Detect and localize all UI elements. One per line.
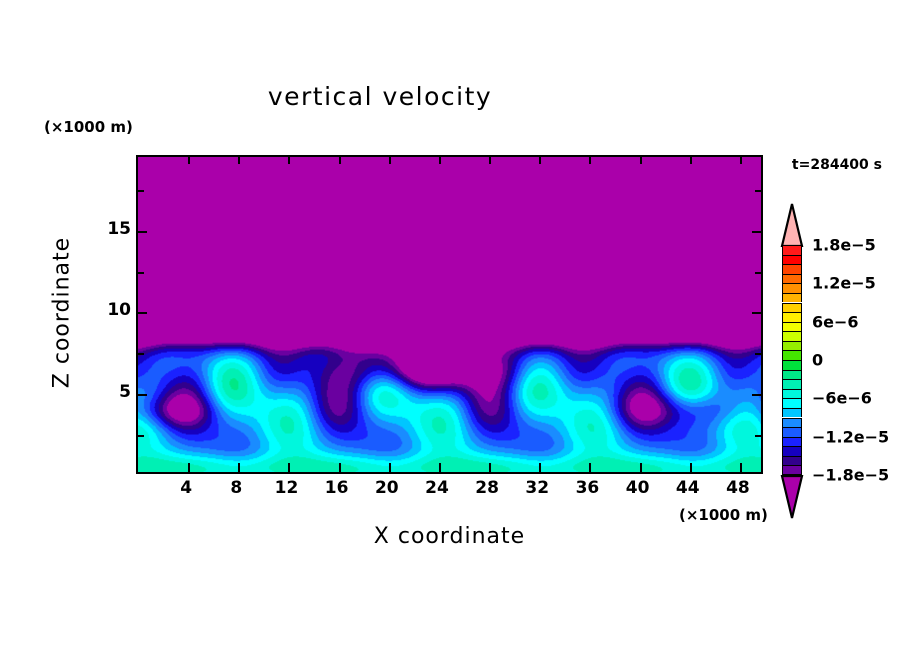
x-axis-tick-label: 36	[576, 478, 600, 498]
x-axis-tick	[539, 157, 541, 164]
colorbar-under-arrow-icon	[777, 475, 807, 519]
y-axis-tick-label: 15	[107, 219, 131, 239]
x-axis-tick	[188, 157, 190, 164]
y-axis-tick	[138, 190, 144, 192]
x-axis-tick-label: 20	[375, 478, 399, 498]
x-axis-tick	[589, 157, 591, 164]
colorbar-tick-label: 6e−6	[812, 312, 859, 331]
y-axis-tick	[138, 435, 144, 437]
x-axis-tick	[489, 157, 491, 164]
colorbar-units-label: (×1000 m)	[679, 506, 768, 524]
colorbar-tick-label: 0	[812, 351, 823, 370]
x-axis-tick	[589, 463, 591, 472]
y-axis-tick	[755, 272, 761, 274]
page-title: vertical velocity	[0, 82, 760, 111]
y-axis-tick	[138, 272, 144, 274]
x-axis-tick	[288, 463, 290, 472]
y-axis-tick	[755, 353, 761, 355]
y-axis-tick	[138, 312, 147, 314]
colorbar-band[interactable]	[782, 341, 802, 351]
y-axis-tick	[755, 190, 761, 192]
x-axis-tick	[439, 157, 441, 164]
colorbar-over-arrow-icon	[777, 203, 807, 247]
x-axis-tick-label: 32	[525, 478, 549, 498]
x-axis-tick	[640, 463, 642, 472]
colorbar-bands[interactable]	[782, 245, 802, 475]
x-axis-tick-label: 16	[325, 478, 349, 498]
colorbar-band[interactable]	[782, 360, 802, 370]
colorbar-tick-label: −1.8e−5	[812, 466, 889, 485]
y-axis-tick	[138, 394, 147, 396]
x-axis-tick	[238, 463, 240, 472]
x-axis-tick	[339, 157, 341, 164]
x-axis-tick-label: 8	[230, 478, 242, 498]
x-axis-tick-label: 28	[475, 478, 499, 498]
x-axis-tick	[389, 463, 391, 472]
x-axis-title: X coordinate	[136, 524, 763, 549]
x-axis-tick-label: 24	[425, 478, 449, 498]
x-axis-tick	[690, 157, 692, 164]
x-axis-tick	[389, 157, 391, 164]
y-axis-tick	[138, 353, 144, 355]
colorbar-band[interactable]	[782, 312, 802, 322]
y-axis-tick	[752, 312, 761, 314]
y-axis-tick	[752, 394, 761, 396]
colorbar-band[interactable]	[782, 322, 802, 332]
x-axis-tick-label: 4	[180, 478, 192, 498]
x-axis-tick-label: 12	[275, 478, 299, 498]
y-axis-units-label: (×1000 m)	[44, 118, 133, 136]
x-axis-tick	[740, 157, 742, 164]
colorbar-band[interactable]	[782, 350, 802, 360]
colorbar-band[interactable]	[782, 293, 802, 303]
time-annotation: t=284400 s	[792, 157, 882, 173]
colorbar-tick-label: −1.2e−5	[812, 427, 889, 446]
y-axis-tick	[138, 231, 147, 233]
y-axis-tick-label: 10	[107, 300, 131, 320]
y-axis-tick	[752, 231, 761, 233]
x-axis-tick-label: 40	[626, 478, 650, 498]
figure-root: vertical velocity (×1000 m) Z coordinate…	[0, 0, 904, 654]
colorbar-tick-label: 1.2e−5	[812, 274, 876, 293]
colorbar-band[interactable]	[782, 245, 802, 255]
colorbar-band[interactable]	[782, 274, 802, 284]
colorbar-band[interactable]	[782, 465, 802, 475]
x-axis-tick	[640, 157, 642, 164]
colorbar-tick-label: −6e−6	[812, 389, 872, 408]
colorbar-band[interactable]	[782, 418, 802, 428]
colorbar-band[interactable]	[782, 331, 802, 341]
colorbar-band[interactable]	[782, 456, 802, 466]
colorbar-band[interactable]	[782, 283, 802, 293]
contour-plot-area	[136, 155, 763, 474]
y-axis-tick-label: 5	[119, 382, 131, 402]
colorbar-band[interactable]	[782, 398, 802, 408]
x-axis-tick	[489, 463, 491, 472]
x-axis-tick	[339, 463, 341, 472]
x-axis-tick	[539, 463, 541, 472]
x-axis-tick	[439, 463, 441, 472]
x-axis-tick	[288, 157, 290, 164]
x-axis-tick	[690, 463, 692, 472]
colorbar-band[interactable]	[782, 437, 802, 447]
vertical-velocity-contour-field	[138, 157, 761, 472]
y-axis-title: Z coordinate	[50, 223, 75, 403]
colorbar-band[interactable]	[782, 446, 802, 456]
colorbar-band[interactable]	[782, 264, 802, 274]
x-axis-tick-label: 48	[726, 478, 750, 498]
colorbar[interactable]	[777, 203, 807, 518]
colorbar-band[interactable]	[782, 370, 802, 380]
colorbar-band[interactable]	[782, 303, 802, 313]
x-axis-tick-label: 44	[676, 478, 700, 498]
x-axis-tick	[740, 463, 742, 472]
colorbar-band[interactable]	[782, 255, 802, 265]
x-axis-tick	[238, 157, 240, 164]
colorbar-tick-label: 1.8e−5	[812, 236, 876, 255]
colorbar-band[interactable]	[782, 427, 802, 437]
x-axis-tick	[188, 463, 190, 472]
colorbar-band[interactable]	[782, 408, 802, 418]
y-axis-tick	[755, 435, 761, 437]
colorbar-band[interactable]	[782, 389, 802, 399]
colorbar-band[interactable]	[782, 379, 802, 389]
